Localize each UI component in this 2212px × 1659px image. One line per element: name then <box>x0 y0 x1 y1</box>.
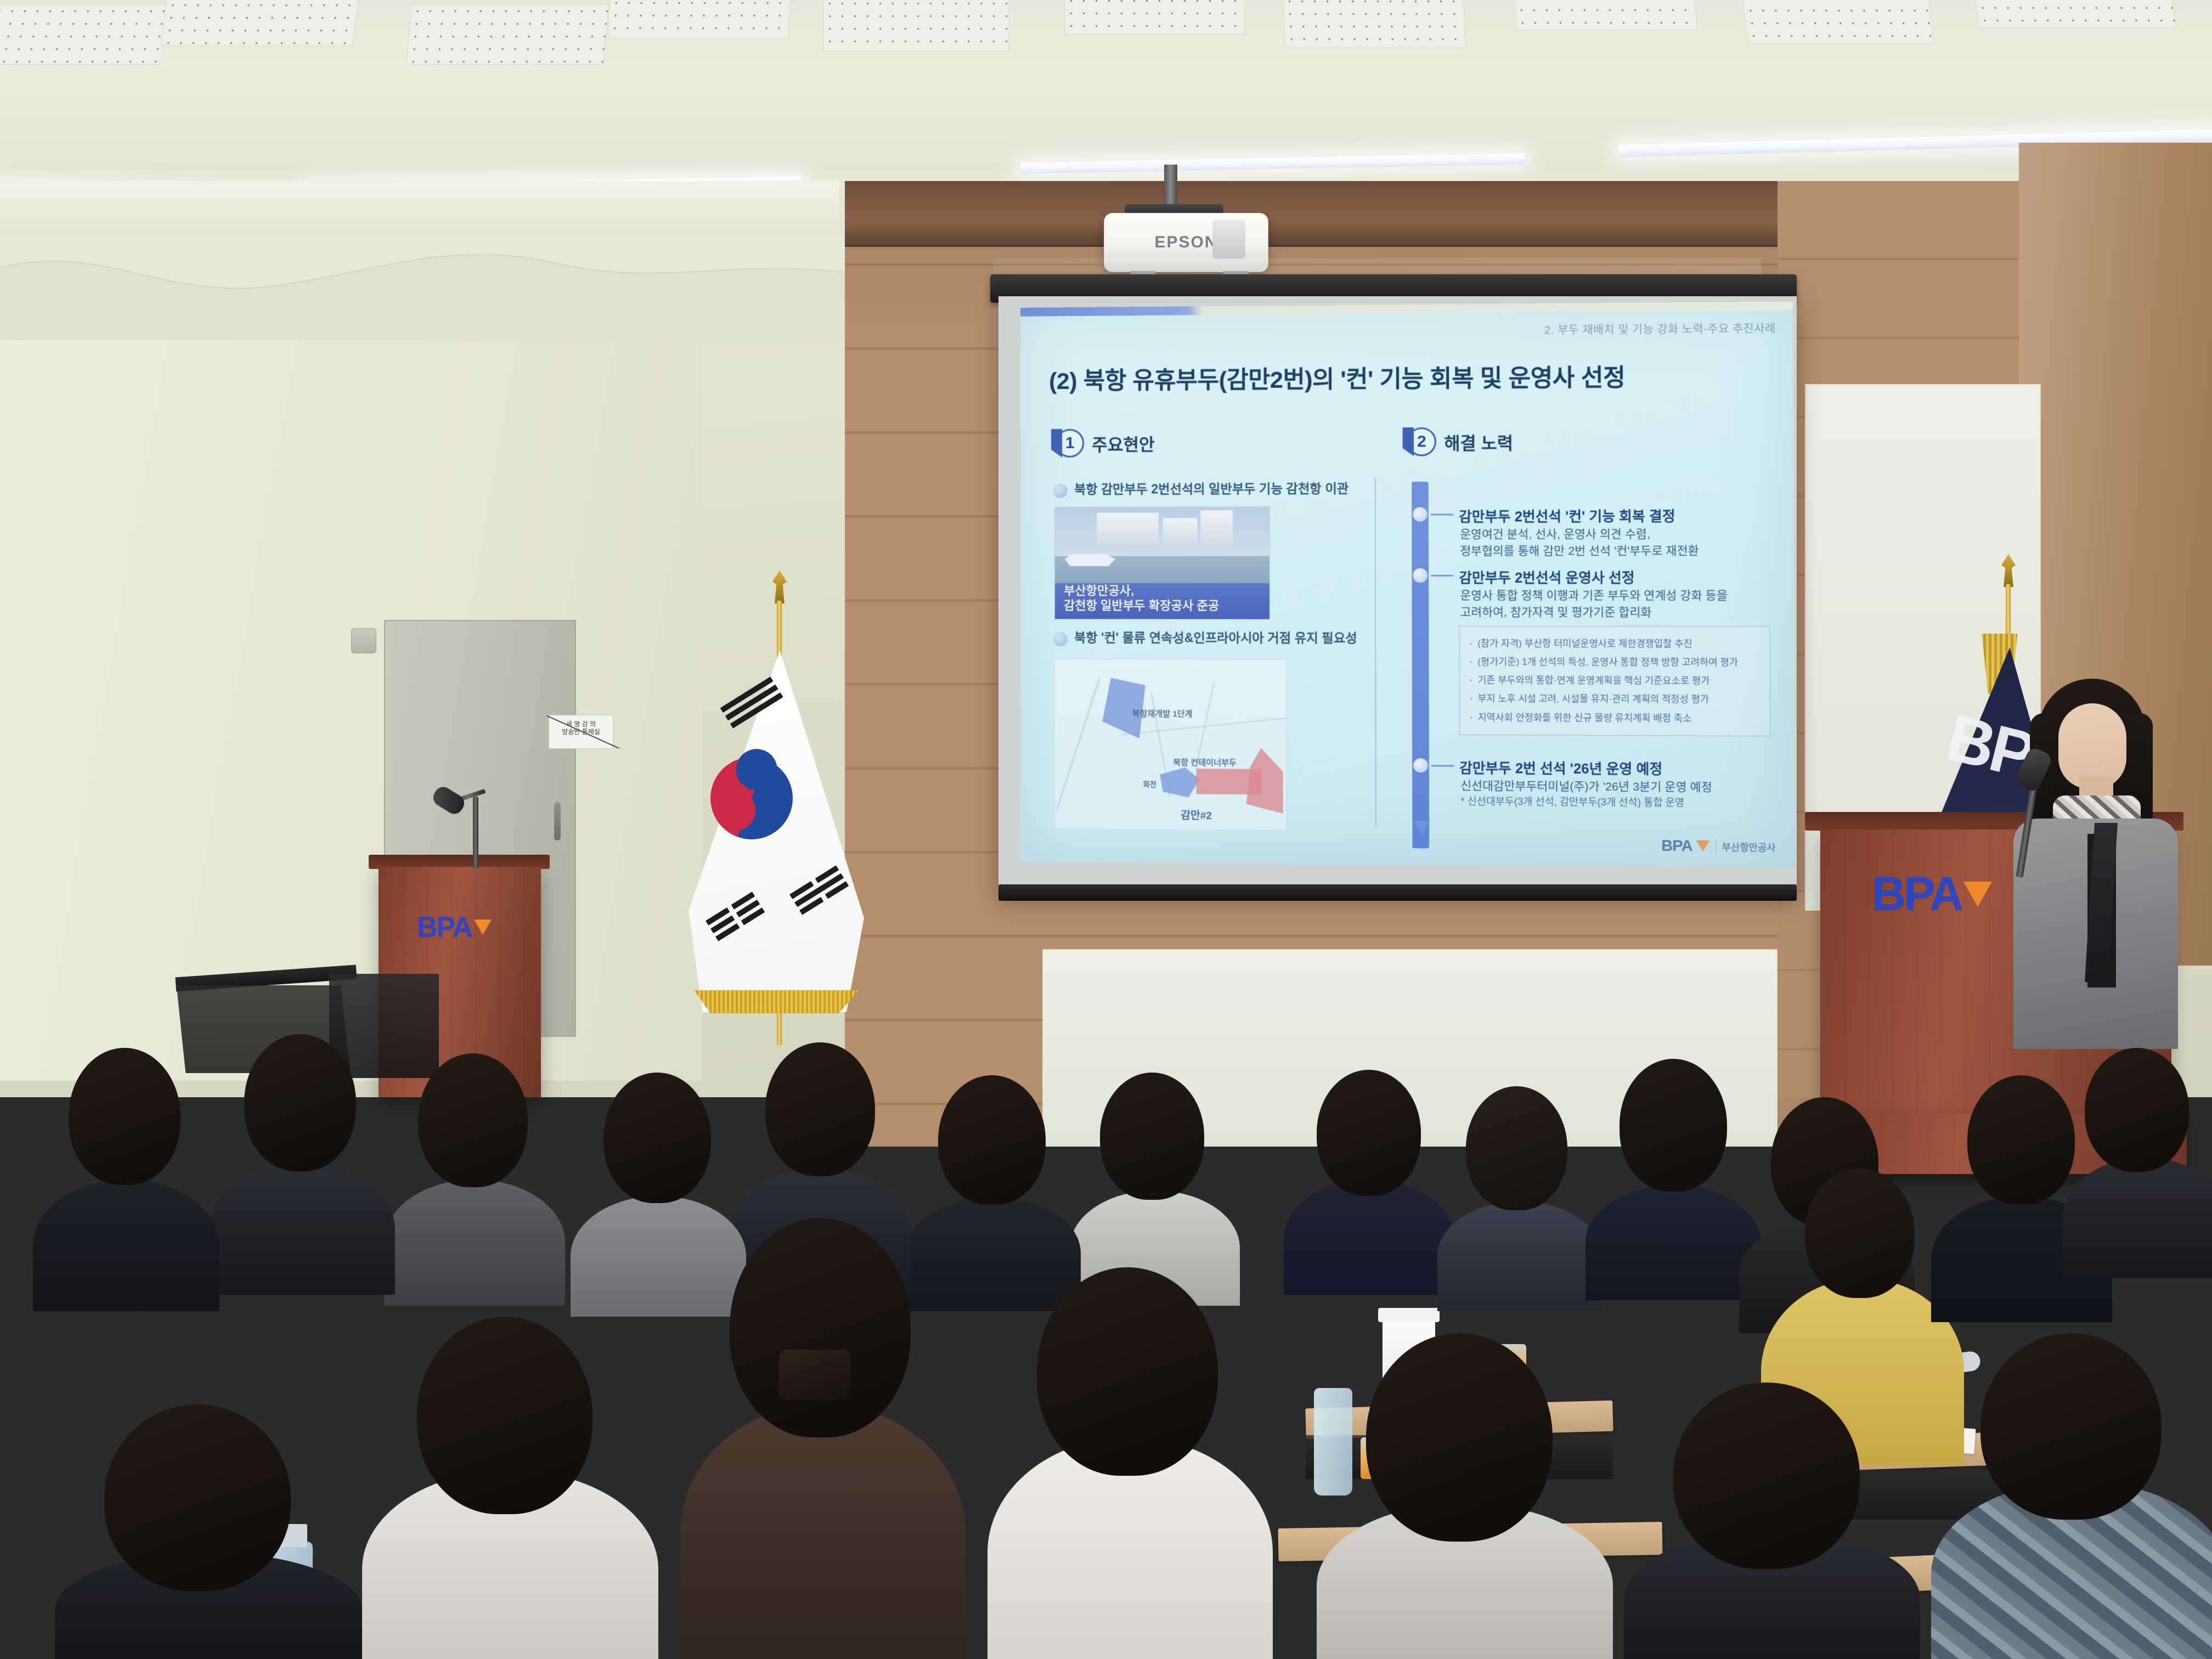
timeline-arrow-icon <box>1413 821 1430 836</box>
timeline-heading-3: 감만부두 2번 선석 '26년 운영 예정 <box>1459 757 1662 778</box>
timeline-node-1 <box>1413 507 1427 521</box>
timeline-body-3-line-2: * 신선대부두(3개 선석, 감만부두(3개 선석) 통합 운영 <box>1460 795 1684 810</box>
detail-item: 지역사회 안정화를 위한 신규 물량 유치계획 배점 축소 <box>1470 708 1759 728</box>
map-road <box>1056 679 1100 810</box>
timeline-connector-1 <box>1431 513 1453 515</box>
photo-building <box>1097 513 1159 549</box>
audience-shoulders <box>384 1180 565 1306</box>
slide-photo-gamcheon: 부산항만공사, 감천항 일반부두 확장공사 준공 <box>1054 506 1270 619</box>
timeline-heading-2: 감만부두 2번선석 운영사 선정 <box>1459 567 1634 587</box>
slide-section-1: 1 주요현안 <box>1051 428 1155 458</box>
flag-fringe-left <box>694 990 859 1013</box>
detail-item: 기존 부두와의 통합·연계 운영계획을 핵심 기준요소로 평가 <box>1470 671 1759 690</box>
wall-wave-molding <box>0 236 856 340</box>
water-bottle <box>1314 1388 1352 1496</box>
photo-caption: 부산항만공사, 감천항 일반부두 확장공사 준공 <box>1064 584 1219 613</box>
section-flag-icon <box>1403 427 1414 456</box>
hair-clip <box>779 1350 850 1400</box>
photo-caption-line-1: 부산항만공사, <box>1064 584 1219 599</box>
right-podium-bpa-logo: BPA <box>1872 867 1992 921</box>
section-label-1: 주요현안 <box>1092 431 1155 456</box>
timeline-body-1-line-1: 운영여건 분석, 선사, 운영사 의견 수렴, <box>1460 527 1650 543</box>
audience-head-front <box>417 1317 592 1514</box>
audience-head <box>938 1075 1046 1205</box>
left-bullet-1: 북항 감만부두 2번선석의 일반부두 기능 감천항 이관 <box>1053 481 1348 498</box>
map-area-east <box>1246 748 1283 814</box>
column-divider <box>1375 477 1376 827</box>
audience-shoulders <box>33 1180 219 1311</box>
door-sign-strikethrough <box>547 715 620 748</box>
left-podium-bpa-text: BPA <box>417 911 472 944</box>
ceiling-tile <box>1282 0 1466 48</box>
section-flag-icon <box>1051 429 1062 458</box>
coffee-cup-lid <box>1378 1308 1440 1322</box>
audience-head <box>1805 1169 1915 1298</box>
audience-shoulders-front <box>680 1404 966 1659</box>
left-bullet-2-text: 북항 '컨' 물류 연속성&인프라아시아 거점 유지 필요성 <box>1074 630 1357 646</box>
bullet-dot-icon <box>1053 484 1068 498</box>
audience-shoulders <box>905 1196 1081 1311</box>
audience-head <box>1620 1059 1727 1192</box>
timeline-body-1-line-2: 정부협의를 통해 감만 2번 선석 '컨'부두로 재전환 <box>1460 544 1699 560</box>
ceiling-tile <box>1971 0 2176 29</box>
audience-head <box>1317 1070 1421 1196</box>
timeline-heading-1: 감만부두 2번선석 '컨' 기능 회복 결정 <box>1459 505 1675 526</box>
left-podium-triangle-icon <box>474 919 492 935</box>
audience-shoulders <box>571 1196 746 1317</box>
photo-building <box>1163 518 1198 549</box>
ceiling-tile <box>1512 0 1697 31</box>
audience-head <box>418 1053 528 1187</box>
right-podium-bpa-text: BPA <box>1872 867 1961 921</box>
audience-head-front <box>730 1218 911 1437</box>
audience-head <box>1967 1075 2075 1205</box>
presentation-slide: 2. 부두 재배치 및 기능 강화 노력-주요 추진사례 (2) 북항 유휴부두… <box>1020 301 1796 868</box>
light-switch[interactable] <box>351 628 376 653</box>
ceiling-tile <box>1741 0 1934 44</box>
section-label-2: 해결 노력 <box>1444 429 1513 454</box>
audience-shoulders <box>208 1163 395 1295</box>
audience-shoulders <box>2063 1158 2212 1278</box>
audience-head-front <box>104 1404 291 1591</box>
audience-head <box>244 1034 356 1171</box>
audience-shoulders <box>1284 1180 1454 1295</box>
timeline-body-2-line-2: 고려하여, 참가자격 및 평가기준 합리화 <box>1460 605 1652 620</box>
presentation-room-scene: 세 명 강 의 방송반 통제실 EPSON 2. 부두 재배치 및 기능 강화 … <box>0 0 2212 1659</box>
footer-triangle-icon <box>1696 840 1710 852</box>
audience-head-front <box>1366 1333 1553 1542</box>
left-podium-mic-stand[interactable] <box>473 797 478 868</box>
projector-lens <box>1212 219 1245 259</box>
left-bullet-1-text: 북항 감만부두 2번선석의 일반부두 기능 감천항 이관 <box>1074 481 1348 497</box>
left-podium-bpa-logo: BPA <box>417 911 492 944</box>
timeline-connector-3 <box>1431 765 1454 766</box>
audience-shoulders <box>1585 1185 1761 1300</box>
right-podium-triangle-icon <box>1963 882 1992 907</box>
ceiling-tile <box>607 0 791 38</box>
bullet-dot-icon <box>1053 632 1068 646</box>
detail-item: (평가기준) 1개 선석의 특성, 운영사 통합 정책 방향 고려하여 평가 <box>1470 653 1759 672</box>
projection-screen-weight-bar <box>998 884 1797 901</box>
timeline-2-detail-box: (참가 자격) 부산항 터미널운영사로 제한경쟁입찰 추진 (평가기준) 1개 … <box>1459 626 1771 736</box>
ceiling-tile <box>0 4 170 65</box>
photo-sky <box>1055 507 1269 556</box>
footer-org-name: 부산항만공사 <box>1722 839 1776 854</box>
detail-item: (참가 자격) 부산항 터미널운영사로 제한경쟁입찰 추진 <box>1470 634 1759 653</box>
slide-footer-logo: BPA 부산항만공사 <box>1661 837 1775 855</box>
audience-head <box>603 1073 711 1203</box>
slide-header-text: 2. 부두 재배치 및 기능 강화 노력-주요 추진사례 <box>1544 319 1776 337</box>
audience-head <box>2085 1048 2189 1172</box>
audience-head-front <box>1980 1333 2162 1520</box>
detail-item: 부지 노후 시설 고려, 시설물 유지·관리 계획의 적정성 평가 <box>1470 690 1759 709</box>
slide-port-map: 북항재개발 1단계 북항 컨테이너부두 화전 감만#2 <box>1054 658 1287 831</box>
audience-head-front <box>1673 1383 1860 1569</box>
wood-header-beam <box>845 181 1778 247</box>
left-bullet-2: 북항 '컨' 물류 연속성&인프라아시아 거점 유지 필요성 <box>1053 630 1357 647</box>
timeline-bar <box>1412 482 1429 849</box>
map-label-redevelopment: 북항재개발 1단계 <box>1132 708 1193 720</box>
map-label-gamman2: 감만#2 <box>1181 807 1212 822</box>
slide-section-2: 2 해결 노력 <box>1403 427 1514 456</box>
timeline-body-3-line-1: 신선대감만부두터미널(주)가 '26년 3분기 운영 예정 <box>1460 778 1712 795</box>
timeline-body-2-line-1: 운영사 통합 정책 이행과 기존 부두와 연계성 강화 등을 <box>1460 588 1728 603</box>
map-label-hwajeon: 화전 <box>1143 778 1156 789</box>
ceiling-tile <box>823 0 1009 52</box>
photo-boat-icon <box>1065 554 1115 566</box>
ceiling-tile <box>406 4 609 65</box>
door-handle[interactable] <box>554 802 561 840</box>
slide-title: (2) 북항 유휴부두(감만2번)의 '컨' 기능 회복 및 운영사 선정 <box>1049 358 1626 396</box>
footer-bpa-text: BPA <box>1661 837 1692 855</box>
footer-divider <box>1716 839 1716 854</box>
map-label-container-wharf: 북항 컨테이너부두 <box>1173 757 1237 769</box>
audience-head <box>1100 1073 1204 1200</box>
timeline-connector-2 <box>1431 575 1453 577</box>
photo-building <box>1200 510 1233 550</box>
projector-brand-label: EPSON <box>1154 233 1217 252</box>
ceiling-tile <box>161 0 360 46</box>
audience-head <box>1466 1086 1567 1210</box>
ceiling-tile <box>1064 0 1245 35</box>
audience-head-front <box>1037 1267 1218 1476</box>
audience-shoulders <box>1437 1201 1602 1311</box>
timeline-node-3 <box>1413 758 1428 773</box>
photo-caption-line-2: 감천항 일반부두 확장공사 준공 <box>1064 599 1219 613</box>
audience-head <box>765 1042 875 1176</box>
audience-head <box>69 1048 180 1185</box>
timeline-node-2 <box>1413 568 1427 583</box>
door-sign: 세 명 강 의 방송반 통제실 <box>549 715 613 749</box>
